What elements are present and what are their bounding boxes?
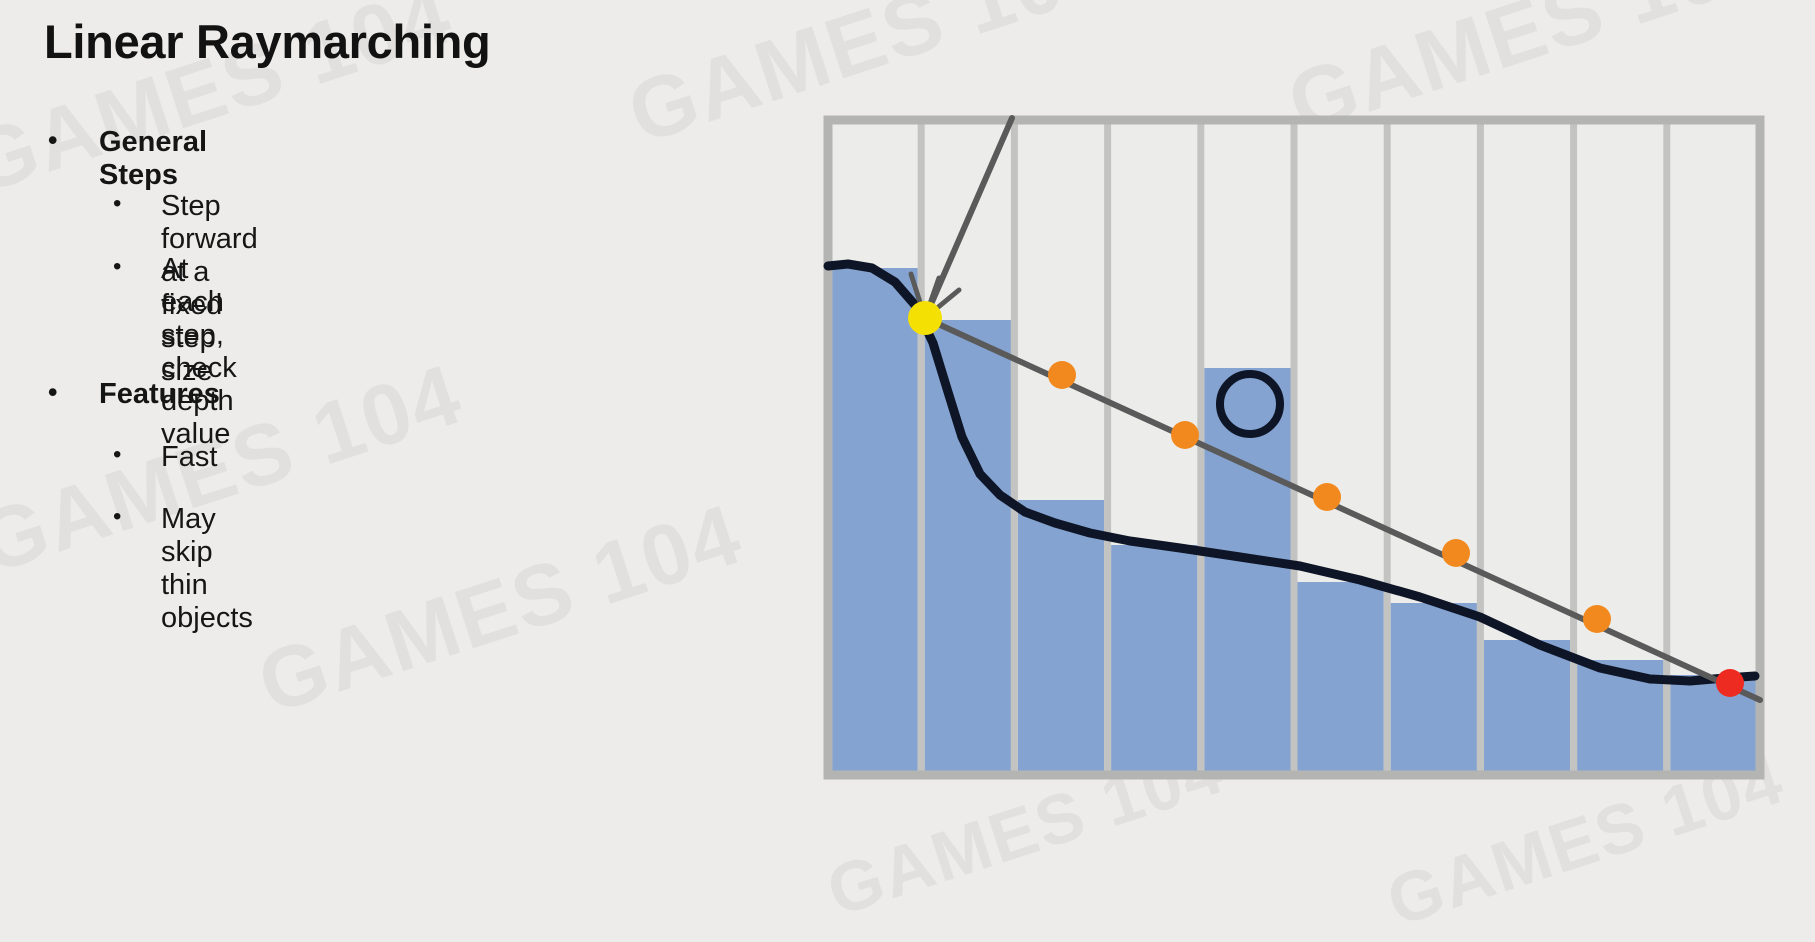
sample-4-dot (1442, 539, 1470, 567)
sample-1-dot (1048, 361, 1076, 389)
bullet-text: Features (99, 378, 220, 411)
depth-bar (832, 268, 918, 775)
bullet-marker: • (113, 253, 121, 281)
raymarching-diagram (818, 110, 1770, 790)
bullet-marker: • (113, 503, 121, 531)
depth-bar (1391, 603, 1477, 775)
bullet-text: At each step, check depth value (161, 253, 237, 451)
slide-root: GAMES 104 GAMES 104 GAMES 104 GAMES 104 … (0, 0, 1815, 898)
depth-bar (925, 320, 1011, 775)
bullet-text: Fast (161, 441, 217, 474)
bullet-marker: • (48, 127, 57, 154)
bullet-text: May skip thin objects (161, 503, 253, 635)
bullet-marker: • (48, 379, 57, 406)
page-title: Linear Raymarching (44, 14, 490, 69)
depth-bar (1111, 545, 1197, 775)
depth-bar (1204, 368, 1290, 775)
bullet-marker: • (113, 441, 121, 469)
raymarching-svg (818, 110, 1770, 790)
depth-bar (1298, 582, 1384, 775)
bullet-text: General Steps (99, 126, 207, 192)
bullet-marker: • (113, 190, 121, 218)
depth-bar (1018, 500, 1104, 775)
sample-2-dot (1171, 421, 1199, 449)
hit-sample-dot (1716, 669, 1744, 697)
sample-3-dot (1313, 483, 1341, 511)
start-sample-dot (908, 301, 942, 335)
sample-5-dot (1583, 605, 1611, 633)
watermark: GAMES 104 (247, 485, 754, 734)
depth-bar (1484, 640, 1570, 775)
